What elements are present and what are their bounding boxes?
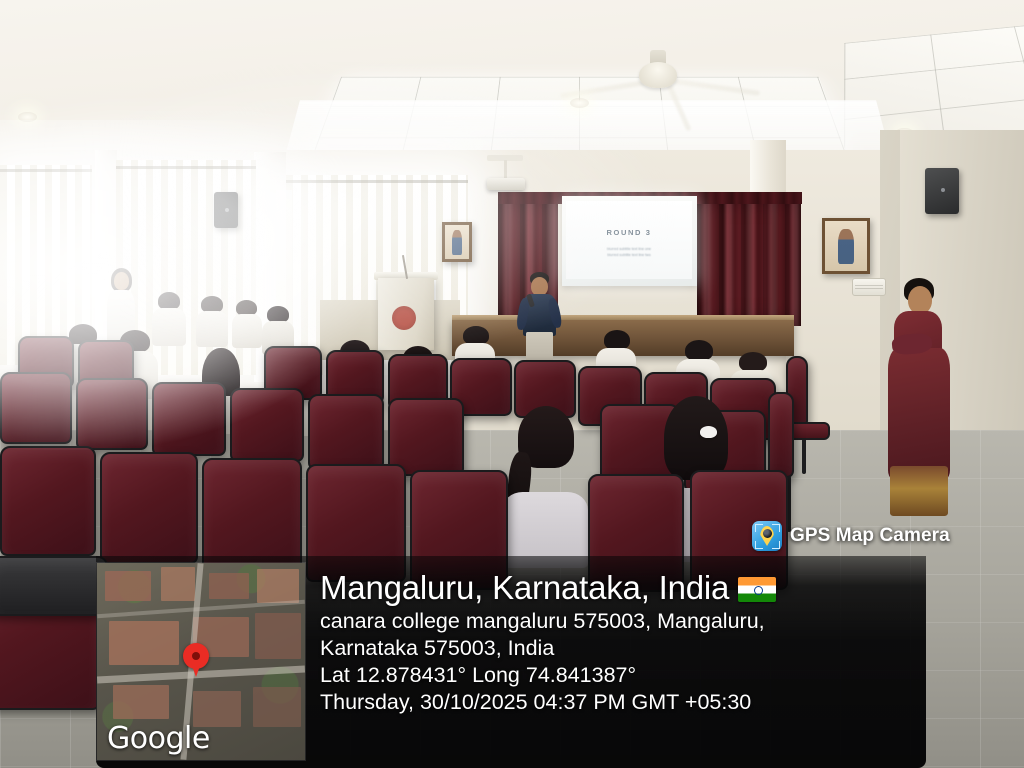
- curtain-folds: [697, 196, 801, 326]
- map-building: [109, 621, 179, 665]
- ceiling-projector: [487, 178, 525, 190]
- chair-backrest: [308, 394, 384, 470]
- recessed-downlight: [18, 112, 37, 122]
- chair: [0, 372, 72, 444]
- butterfly-hair-clip: [700, 426, 717, 438]
- presenter: [516, 272, 562, 364]
- stage-curtain-right: [697, 196, 801, 326]
- projection-screen: ROUND 3 blurred subtitle text line one b…: [562, 196, 697, 286]
- location-title: Mangaluru, Karnataka, India: [320, 568, 920, 608]
- window-rail: [116, 166, 256, 169]
- badge-corner-bracket: [772, 524, 780, 532]
- slide-subtitle: blurred subtitle text line one blurred s…: [584, 246, 675, 258]
- podium-emblem: [392, 306, 416, 330]
- portrait-figure: [452, 230, 462, 255]
- map-building: [257, 569, 299, 603]
- chair: [230, 388, 304, 462]
- address-line-2: Karnataka 575003, India: [320, 635, 920, 662]
- india-flag-icon: [738, 577, 776, 602]
- gps-map-camera-photo: ROUND 3 blurred subtitle text line one b…: [0, 0, 1024, 768]
- attendee-back-row: [232, 300, 262, 348]
- chair: [76, 378, 148, 450]
- location-info-block: Mangaluru, Karnataka, India canara colle…: [320, 568, 920, 716]
- badge-corner-bracket: [755, 541, 763, 549]
- attendee-torso: [196, 311, 228, 347]
- slide-title: ROUND 3: [566, 228, 692, 237]
- projection-screen-surface: ROUND 3 blurred subtitle text line one b…: [566, 201, 692, 279]
- portrait-canvas: [825, 221, 867, 271]
- saree-woman-border: [890, 466, 948, 516]
- framed-portrait-left: [442, 222, 472, 262]
- saree-woman-drape: [888, 348, 950, 478]
- recessed-downlight: [570, 98, 589, 108]
- map-pin-icon: [183, 643, 209, 677]
- badge-corner-bracket: [755, 524, 763, 532]
- map-building: [105, 571, 151, 601]
- attendee-back-row: [196, 296, 228, 346]
- saree-woman-head: [908, 286, 932, 314]
- address-line-1: canara college mangaluru 575003, Mangalu…: [320, 608, 920, 635]
- coordinates-line: Lat 12.878431° Long 74.841387°: [320, 662, 920, 689]
- attendee-hair: [685, 340, 713, 361]
- chair-backrest: [0, 446, 96, 556]
- attendee-hair: [604, 330, 630, 350]
- foreground-girl-hair: [664, 396, 728, 480]
- ceiling-fan-motor: [639, 62, 677, 88]
- standing-woman-head: [114, 272, 129, 290]
- map-building: [209, 573, 249, 599]
- map-building: [113, 685, 169, 719]
- chair: [308, 394, 384, 470]
- badge-corner-bracket: [772, 541, 780, 549]
- gps-map-camera-label: GPS Map Camera: [790, 525, 950, 547]
- location-map-thumbnail[interactable]: Google: [97, 563, 305, 760]
- wall-speaker-left: [214, 192, 238, 228]
- slide-subtitle-line2: blurred subtitle text line two: [607, 253, 651, 257]
- chair-backrest: [0, 372, 72, 444]
- podium: [378, 278, 434, 350]
- attendee-torso: [232, 314, 262, 348]
- chair-backrest: [152, 382, 226, 456]
- attendee-hair: [739, 352, 767, 372]
- chair-side-profile: [768, 392, 794, 478]
- attendee-foreground-left: [498, 406, 590, 566]
- chair: [100, 452, 198, 564]
- framed-portrait-right: [822, 218, 870, 274]
- chair-backrest: [0, 556, 108, 616]
- map-building: [161, 567, 195, 601]
- chair-backrest: [76, 378, 148, 450]
- chair: [0, 446, 96, 556]
- chair-backrest: [230, 388, 304, 462]
- chair-backrest: [100, 452, 198, 564]
- location-title-text: Mangaluru, Karnataka, India: [320, 569, 729, 606]
- portrait-figure: [838, 229, 853, 264]
- map-building: [255, 613, 301, 659]
- datetime-line: Thursday, 30/10/2025 04:37 PM GMT +05:30: [320, 689, 920, 716]
- map-building: [253, 687, 301, 727]
- chair: [0, 556, 108, 616]
- window-rail: [0, 169, 92, 172]
- gps-map-camera-icon: [752, 521, 782, 551]
- portrait-canvas: [445, 225, 469, 259]
- chair: [152, 382, 226, 456]
- wall-speaker-right: [925, 168, 959, 214]
- gps-map-camera-badge: GPS Map Camera: [752, 521, 950, 551]
- attendee-woman-saree: [880, 278, 954, 523]
- slide-subtitle-line1: blurred subtitle text line one: [607, 247, 651, 251]
- google-watermark: Google: [107, 721, 210, 756]
- chair-backrest: [768, 392, 794, 478]
- window-rail: [286, 180, 468, 183]
- projector-mount-arm: [504, 160, 507, 180]
